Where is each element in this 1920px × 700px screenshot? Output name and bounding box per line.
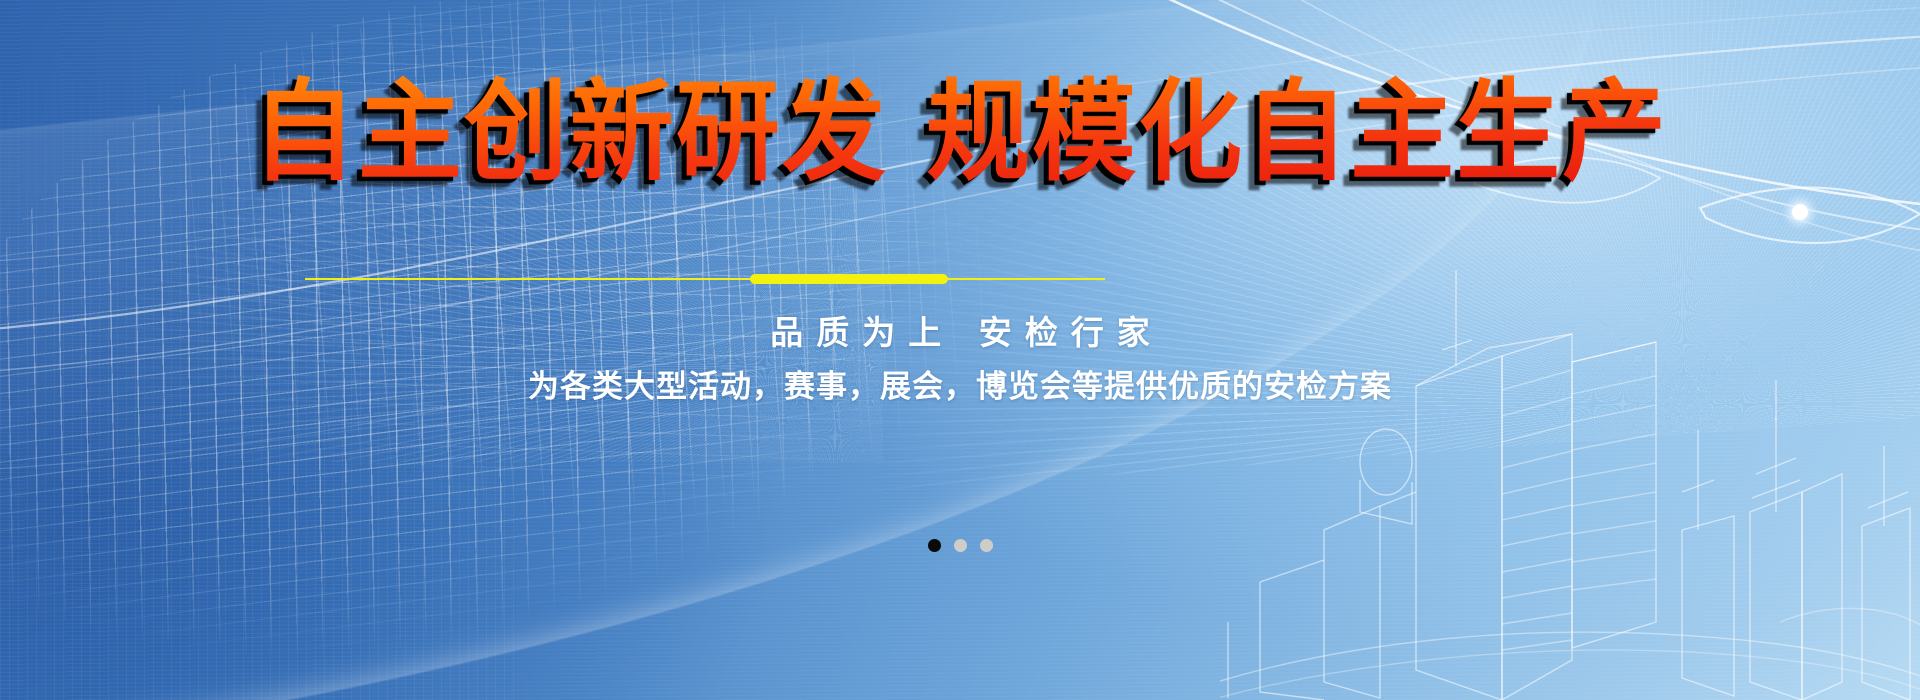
carousel-dot-1[interactable] — [928, 539, 941, 552]
banner-content: 自主创新研发 规模化自主生产 品质为上 安检行家 为各类大型活动，赛事，展会，博… — [0, 0, 1920, 700]
banner-subtitle: 品质为上 安检行家 — [0, 306, 1920, 354]
banner-headline: 自主创新研发 规模化自主生产 — [0, 73, 1920, 192]
hero-banner: 自主创新研发 规模化自主生产 品质为上 安检行家 为各类大型活动，赛事，展会，博… — [0, 0, 1920, 700]
carousel-dot-3[interactable] — [980, 539, 993, 552]
divider-thick-segment — [750, 274, 948, 284]
yellow-divider — [305, 274, 1105, 284]
banner-description: 为各类大型活动，赛事，展会，博览会等提供优质的安检方案 — [0, 361, 1920, 406]
divider-thin-line — [305, 278, 1105, 280]
carousel-dot-2[interactable] — [954, 539, 967, 552]
carousel-dots[interactable] — [0, 539, 1920, 552]
